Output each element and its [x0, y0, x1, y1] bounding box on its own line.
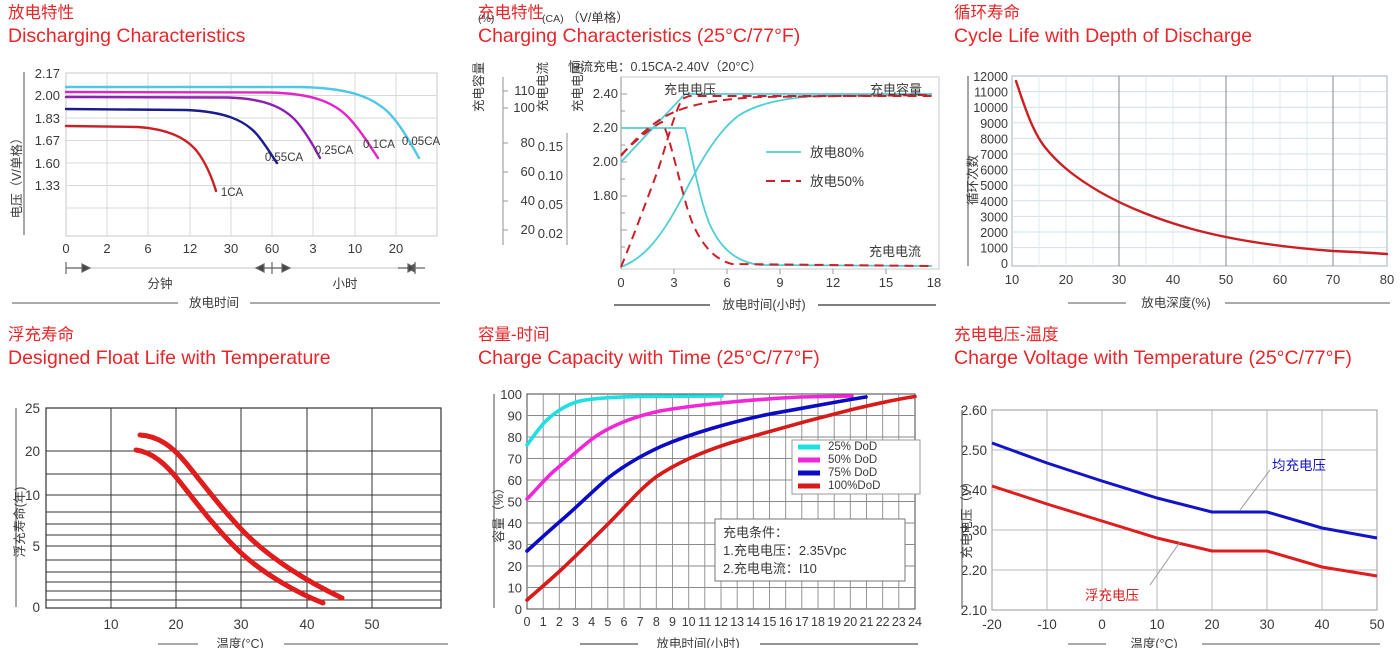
- x-tick: 11: [698, 615, 711, 629]
- y-tick: 5: [32, 539, 40, 554]
- legend-label-25: 25% DoD: [828, 441, 877, 453]
- legend-label-50: 50% DoD: [828, 454, 877, 466]
- x-tick: 20: [1059, 272, 1073, 287]
- x-tick: 16: [779, 615, 793, 629]
- cap-tick: 80: [521, 135, 535, 150]
- x-tick: 19: [827, 615, 841, 629]
- charging-note: 恒流充电：0.15CA-2.40V（20°C）: [568, 59, 762, 74]
- x-tick: 20: [1204, 617, 1219, 632]
- y-tick: 0: [515, 602, 522, 617]
- x-axis-ticks: 0 3 6 9 12 15 18: [617, 275, 941, 290]
- y-tick: 10: [25, 488, 40, 503]
- y-tick: 2000: [980, 226, 1008, 240]
- y-tick: 2.50: [961, 443, 987, 458]
- y-tick: 1000: [980, 242, 1008, 256]
- y-axis-ticks: 2.17 2.00 1.83 1.67 1.60 1.33: [35, 66, 60, 193]
- panel-chargevolt-plot: 均充电压 浮充电压 2.60 2.50 2.40 2.30 2.20 2.10 …: [940, 322, 1400, 648]
- cur-tick: 0.02: [538, 226, 563, 241]
- curve-label: 0.55CA: [265, 152, 304, 164]
- legend-swatch-25: [798, 445, 820, 450]
- x-tick: 70: [1326, 272, 1340, 287]
- x-axis-label: 放电时间(小时): [722, 297, 805, 312]
- panel-charging: 充电特性 Charging Characteristics (25°C/77°F…: [470, 0, 940, 320]
- cap-axis-label: 充电容量: [471, 62, 486, 112]
- legend-swatch-75: [798, 471, 820, 476]
- cap-tick: 100: [513, 100, 535, 115]
- x-tick: 10: [1005, 272, 1019, 287]
- x-tick: 15: [763, 615, 777, 629]
- y-axis-label: 电压（V/单格）: [9, 132, 24, 219]
- x-tick: 22: [876, 615, 890, 629]
- x-tick: 40: [1166, 272, 1180, 287]
- x-axis-ticks: 10 20 30 40 50: [103, 617, 379, 632]
- legend-swatch-100: [798, 484, 820, 489]
- x-axis-ticks: 10 20 30 40 50 60 70 80: [1005, 272, 1394, 287]
- y-tick: 2.00: [35, 88, 60, 103]
- y-axis-label: 容量（%）: [491, 481, 506, 542]
- y-tick: 10: [508, 581, 522, 596]
- y-tick: 7000: [980, 148, 1008, 162]
- cap-tick: 110: [514, 83, 535, 98]
- x-tick: 30: [233, 617, 248, 632]
- annotation-float: 浮充电压: [1085, 588, 1139, 603]
- y-tick: 0: [1001, 257, 1008, 271]
- x-tick: 18: [811, 615, 825, 629]
- x-axis-label: 放电时间: [189, 295, 239, 310]
- x-tick: 23: [892, 615, 906, 629]
- x-tick: -20: [982, 617, 1002, 632]
- x-tick: 5: [604, 615, 611, 629]
- panel-capacity-plot: 25% DoD 50% DoD 75% DoD 100%DoD 充电条件： 1.…: [470, 322, 940, 648]
- x-tick: 0: [62, 241, 69, 256]
- panel-capacity: 容量-时间 Charge Capacity with Time (25°C/77…: [470, 322, 940, 648]
- y-axis-label: 充电电压（V）: [959, 475, 974, 558]
- y-axis-label: 循环次数: [965, 155, 980, 206]
- y-tick: 6000: [980, 164, 1008, 178]
- y-tick: 9000: [980, 117, 1008, 131]
- x-tick: 40: [299, 617, 314, 632]
- range-arrows: [66, 262, 425, 274]
- x-tick-marks: [674, 269, 886, 274]
- note-line: 2.充电电流：I10: [723, 561, 817, 576]
- x-tick: 1: [540, 615, 547, 629]
- x-tick: 3: [309, 241, 316, 256]
- x-tick: 15: [879, 275, 893, 290]
- x-group-minutes: 分钟: [147, 276, 172, 291]
- x-group-hours: 小时: [332, 277, 358, 291]
- y-tick: 2.20: [961, 563, 987, 578]
- x-axis-label: 放电时间(小时): [656, 636, 739, 648]
- y-tick: 20: [25, 444, 40, 459]
- x-tick: 9: [669, 615, 676, 629]
- x-tick: 6: [723, 275, 730, 290]
- y-tick: 8000: [980, 132, 1008, 146]
- y-tick: 1.83: [35, 111, 60, 126]
- plot-frame: [46, 408, 441, 608]
- vol-axis-label: 充电电压: [570, 62, 585, 112]
- x-tick: 30: [1112, 272, 1126, 287]
- y-tick: 11000: [974, 86, 1008, 100]
- x-tick: 17: [795, 615, 809, 629]
- legend-label-50: 放电50%: [810, 174, 864, 189]
- x-tick: 50: [1369, 617, 1384, 632]
- x-tick: 30: [224, 241, 238, 256]
- x-tick: 13: [730, 615, 744, 629]
- y-tick: 30: [508, 538, 522, 553]
- panel-discharging-plot: 2.17 2.00 1.83 1.67 1.60 1.33 0 2 6 12 3…: [0, 0, 470, 320]
- x-tick: 60: [265, 241, 279, 256]
- cur-unit: (CA): [542, 13, 564, 25]
- x-axis-ticks: 0 2 6 12 30 60 3 10 20: [62, 241, 403, 256]
- legend-label-100: 100%DoD: [828, 480, 880, 492]
- cap-tick: 20: [521, 222, 535, 237]
- vol-tick: 2.00: [593, 154, 618, 169]
- x-tick: 20: [843, 615, 857, 629]
- cap-tick: 60: [521, 164, 535, 179]
- x-tick: 6: [621, 615, 628, 629]
- panel-floatlife: 浮充寿命 Designed Float Life with Temperatur…: [0, 322, 470, 648]
- y-tick: 50: [508, 495, 522, 510]
- y-tick: 1.60: [35, 156, 60, 171]
- y-tick: 80: [508, 430, 522, 445]
- vol-tick: 1.80: [593, 188, 618, 203]
- x-tick: 12: [826, 275, 840, 290]
- panel-charging-plot: 恒流充电：0.15CA-2.40V（20°C） (%) (CA) （V/单格） …: [470, 0, 940, 320]
- cap-unit: (%): [478, 13, 494, 25]
- x-tick: 80: [1380, 272, 1394, 287]
- x-tick: 40: [1314, 617, 1329, 632]
- panel-floatlife-plot: 25 20 10 5 0 10 20 30 40 50 浮充寿命(年) 温度(°: [0, 322, 470, 648]
- x-tick: 2: [556, 615, 563, 629]
- legend-label-75: 75% DoD: [828, 467, 877, 479]
- vol-tick: 2.20: [593, 120, 618, 135]
- cap-tick: 40: [521, 193, 535, 208]
- cap-ticks: 110 100 80 60 40 20: [513, 83, 535, 237]
- note-line: 1.充电电压：2.35Vpc: [723, 543, 847, 558]
- legend-swatch-50: [798, 458, 820, 463]
- x-axis-label: 温度(°C): [1130, 636, 1177, 648]
- annotation-capacity: 充电容量: [870, 82, 922, 97]
- y-tick: 90: [508, 409, 522, 424]
- plot-frame: [992, 410, 1377, 610]
- x-tick: 12: [183, 241, 197, 256]
- x-tick: 6: [144, 241, 151, 256]
- cur-ticks: 0.15 0.10 0.05 0.02: [538, 139, 563, 241]
- x-tick: 50: [1219, 272, 1233, 287]
- y-tick: 3000: [980, 210, 1008, 224]
- x-tick: 24: [908, 615, 922, 629]
- x-tick: 8: [653, 615, 660, 629]
- y-tick: 70: [508, 452, 522, 467]
- note-line: 充电条件：: [723, 525, 788, 540]
- x-tick: 21: [860, 615, 874, 629]
- x-tick: 3: [670, 275, 677, 290]
- x-tick: 0: [617, 275, 624, 290]
- capacity-note-box: 充电条件： 1.充电电压：2.35Vpc 2.充电电流：I10: [715, 519, 905, 581]
- y-tick: 40: [508, 516, 522, 531]
- cur-tick: 0.15: [538, 139, 563, 154]
- x-tick: 0: [1098, 617, 1106, 632]
- x-tick: -10: [1037, 617, 1057, 632]
- x-tick: 60: [1273, 272, 1287, 287]
- y-tick: 20: [508, 559, 522, 574]
- x-tick: 10: [1149, 617, 1164, 632]
- x-tick: 4: [588, 615, 595, 629]
- cap-tick-marks: [503, 91, 508, 230]
- curve-label: 1CA: [221, 187, 244, 199]
- cur-tick: 0.10: [538, 168, 563, 183]
- y-tick: 2.10: [961, 603, 987, 618]
- y-tick: 4000: [980, 195, 1008, 209]
- legend-label-80: 放电80%: [810, 145, 864, 160]
- panel-cyclelife-plot: 12000 11000 10000 9000 8000 7000 6000 50…: [940, 0, 1400, 320]
- curve-label: 0.1CA: [363, 139, 395, 151]
- y-tick: 1.33: [35, 178, 60, 193]
- vol-unit: （V/单格）: [567, 10, 629, 25]
- curve-label: 0.05CA: [402, 136, 441, 148]
- x-tick: 3: [572, 615, 579, 629]
- axis-units: (%) (CA): [478, 13, 564, 25]
- x-tick: 50: [364, 617, 379, 632]
- x-tick: 20: [168, 617, 183, 632]
- x-tick: 10: [682, 615, 696, 629]
- capacity-legend-box: 25% DoD 50% DoD 75% DoD 100%DoD: [792, 440, 920, 494]
- charts-page: 放电特性 Discharging Characteristics: [0, 0, 1400, 648]
- y-tick: 100: [500, 387, 522, 402]
- x-tick: 7: [637, 615, 644, 629]
- x-tick: 14: [746, 615, 760, 629]
- x-tick: 10: [348, 241, 362, 256]
- x-tick: 12: [714, 615, 728, 629]
- x-axis-label: 放电深度(%): [1141, 295, 1210, 310]
- y-tick: 60: [508, 473, 522, 488]
- panel-chargevolt: 充电电压-温度 Charge Voltage with Temperature …: [940, 322, 1400, 648]
- panel-discharging: 放电特性 Discharging Characteristics: [0, 0, 470, 320]
- y-tick: 2.17: [35, 66, 60, 81]
- x-tick: 10: [103, 617, 118, 632]
- annotation-voltage: 充电电压: [664, 82, 716, 97]
- y-tick: 25: [25, 401, 40, 416]
- y-tick: 0: [32, 600, 40, 615]
- y-tick: 12000: [973, 70, 1008, 84]
- curve-label: 0.25CA: [315, 145, 354, 157]
- x-axis-ticks: 0 1 2 3 4 5 6 7 8 9 10 11 12 13 14 15 16: [524, 615, 922, 629]
- y-axis-ticks: 25 20 10 5 0: [25, 401, 40, 615]
- x-tick: 2: [103, 241, 110, 256]
- annotation-equalize: 均充电压: [1272, 458, 1326, 473]
- y-tick: 2.60: [961, 403, 987, 418]
- cur-tick: 0.05: [538, 197, 563, 212]
- x-tick: 30: [1259, 617, 1274, 632]
- x-tick: 9: [776, 275, 783, 290]
- x-axis-label: 温度(°C): [216, 636, 263, 648]
- y-tick: 10000: [973, 101, 1008, 115]
- annotation-current: 充电电流: [869, 244, 921, 259]
- x-tick: 0: [524, 615, 531, 629]
- y-axis-label: 浮充寿命(年): [12, 487, 27, 558]
- plot-frame: [621, 77, 939, 269]
- vol-tick: 2.40: [593, 86, 618, 101]
- y-tick: 1.67: [35, 133, 60, 148]
- cur-axis-label: 充电电流: [535, 62, 550, 113]
- x-tick: 20: [389, 241, 403, 256]
- x-axis-ticks: -20 -10 0 10 20 30 40 50: [982, 617, 1384, 632]
- panel-cyclelife: 循环寿命 Cycle Life with Depth of Discharge: [940, 0, 1400, 320]
- vol-ticks: 2.40 2.20 2.00 1.80: [593, 86, 618, 203]
- y-tick: 5000: [980, 179, 1008, 193]
